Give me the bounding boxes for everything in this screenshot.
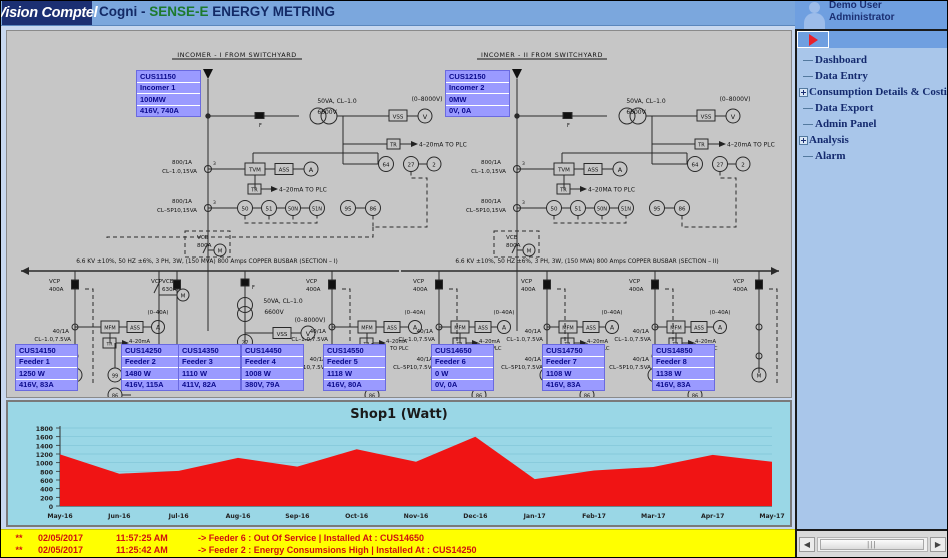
svg-text:ASS: ASS [279, 168, 290, 174]
user-avatar-icon [803, 1, 825, 29]
svg-text:ASS: ASS [586, 326, 596, 332]
svg-text:A: A [309, 166, 314, 174]
horizontal-scrollbar[interactable]: ◀ ||| ▶ [795, 529, 948, 558]
alarm-stars: ** [0, 533, 38, 543]
svg-text:MFM: MFM [104, 326, 116, 332]
svg-text:VCP: VCP [733, 279, 745, 285]
svg-text:(0–40A): (0–40A) [405, 310, 426, 316]
incomer-power: 100MW [137, 94, 200, 106]
svg-text:800/1A: 800/1A [481, 199, 501, 205]
svg-text:V: V [731, 113, 736, 121]
svg-text:CL–5P10,15VA: CL–5P10,15VA [157, 208, 197, 214]
feeder-card[interactable]: CUS14350 Feeder 3 1110 W 411V, 82A [178, 344, 241, 391]
alarm-time: 11:25:42 AM [116, 545, 198, 555]
svg-text:400A: 400A [733, 287, 748, 293]
svg-text:86: 86 [692, 394, 698, 399]
sld-schematic: INCOMER - I FROM SWITCHYARD F 50VA, CL–1… [7, 31, 792, 398]
sidebar-item-label: Consumption Details & Costing [809, 86, 948, 98]
svg-text:40/1A: 40/1A [633, 329, 650, 335]
svg-text:64: 64 [383, 163, 390, 169]
svg-text:Jul-16: Jul-16 [168, 513, 189, 520]
feeder-reading: 416V, 115A [122, 380, 183, 391]
svg-text:CL–1.0,15VA: CL–1.0,15VA [471, 169, 506, 175]
svg-text:Aug-16: Aug-16 [226, 513, 251, 520]
sidebar-item-data-entry[interactable]: Data Entry [797, 68, 948, 84]
feeder-reading: 0V, 0A [432, 380, 493, 391]
svg-text:400: 400 [40, 487, 54, 494]
svg-text:6600V: 6600V [264, 309, 284, 316]
feeder-code: CUS14750 [543, 345, 604, 357]
sidebar-item-label: Admin Panel [815, 118, 876, 130]
svg-text:(0–40A): (0–40A) [710, 310, 731, 316]
single-line-diagram-panel: INCOMER - I FROM SWITCHYARD F 50VA, CL–1… [6, 30, 792, 398]
svg-text:40/1A: 40/1A [417, 329, 434, 335]
feeder-reading: 416V, 80A [324, 380, 385, 391]
svg-text:51: 51 [266, 207, 273, 213]
vision-comptel-logo: Vision Comptel [2, 0, 92, 25]
svg-text:27: 27 [717, 163, 724, 169]
expand-plus-icon[interactable] [799, 136, 808, 145]
feeder-power: 1480 W [122, 368, 183, 380]
svg-text:600: 600 [40, 478, 54, 485]
alarm-ticker-bar: ** 02/05/2017 11:57:25 AM -> Feeder 6 : … [0, 529, 795, 558]
feeder-code: CUS14150 [16, 345, 77, 357]
alarm-date: 02/05/2017 [38, 545, 116, 555]
svg-text:6600V: 6600V [317, 109, 337, 116]
svg-text:51N: 51N [312, 207, 322, 213]
title-energy-metring: ENERGY METRING [209, 4, 336, 19]
svg-text:F: F [259, 123, 262, 129]
incomer-reading: 416V, 740A [137, 106, 200, 117]
sidebar-item-dashboard[interactable]: Dashboard [797, 52, 948, 68]
svg-text:3: 3 [522, 200, 525, 206]
feeder-name: Feeder 8 [653, 357, 714, 369]
navigation-sidebar: Dashboard Data Entry Consumption Details… [795, 29, 948, 529]
sidebar-header-strip [829, 31, 948, 48]
svg-text:ASS: ASS [130, 326, 140, 332]
svg-text:400A: 400A [49, 287, 64, 293]
feeder-name: Feeder 1 [16, 357, 77, 369]
svg-text:40/1A: 40/1A [525, 329, 542, 335]
sidebar-item-alarm[interactable]: Alarm [797, 148, 948, 164]
feeder-code: CUS14250 [122, 345, 183, 357]
svg-text:CL–1.0,7.5VA: CL–1.0,7.5VA [291, 337, 328, 343]
svg-text:CL–1.0,7.5VA: CL–1.0,7.5VA [398, 337, 435, 343]
svg-text:800A: 800A [197, 243, 212, 249]
feeder-reading: 411V, 82A [179, 380, 240, 391]
svg-text:Oct-16: Oct-16 [345, 513, 368, 520]
feeder-card[interactable]: CUS14550 Feeder 5 1118 W 416V, 80A [323, 344, 386, 391]
feeder-card[interactable]: CUS14750 Feeder 7 1108 W 416V, 83A [542, 344, 605, 391]
svg-text:800A: 800A [506, 243, 521, 249]
svg-text:CL–1.0,7.5VA: CL–1.0,7.5VA [506, 337, 543, 343]
feeder-card[interactable]: CUS14650 Feeder 6 0 W 0V, 0A [431, 344, 494, 391]
tree-line-icon [803, 108, 813, 109]
svg-text:A: A [718, 325, 723, 332]
svg-text:800/1A: 800/1A [172, 199, 192, 205]
svg-text:VCP: VCP [49, 279, 61, 285]
feeder-code: CUS14450 [242, 345, 303, 357]
sidebar-menu: Dashboard Data Entry Consumption Details… [797, 48, 948, 164]
svg-text:86: 86 [370, 207, 377, 213]
svg-text:ASS: ASS [588, 168, 599, 174]
svg-text:50: 50 [551, 207, 558, 213]
svg-text:Dec-16: Dec-16 [463, 513, 487, 520]
tree-line-icon [803, 76, 813, 77]
svg-text:CL–1.0,15VA: CL–1.0,15VA [162, 169, 197, 175]
sidebar-item-admin-panel[interactable]: Admin Panel [797, 116, 948, 132]
tree-line-icon [803, 156, 813, 157]
svg-text:VCB: VCB [197, 235, 209, 241]
expand-plus-icon[interactable] [799, 88, 808, 97]
svg-text:86: 86 [679, 207, 686, 213]
svg-text:400A: 400A [629, 287, 644, 293]
svg-text:86: 86 [584, 394, 590, 399]
feeder-power: 1110 W [179, 368, 240, 380]
tree-line-icon [803, 60, 813, 61]
feeder-code: CUS14650 [432, 345, 493, 357]
incomer-reading: 0V, 0A [446, 106, 509, 117]
sidebar-item-analysis[interactable]: Analysis [797, 132, 948, 148]
feeder-power: 1118 W [324, 368, 385, 380]
svg-text:TR: TR [106, 342, 114, 348]
svg-text:CL–5P10,7.5VA: CL–5P10,7.5VA [609, 365, 651, 371]
incomer-code: CUS11150 [137, 71, 200, 83]
svg-text:CL–5P10,7.5VA: CL–5P10,7.5VA [393, 365, 435, 371]
feeder-card[interactable]: CUS14250 Feeder 2 1480 W 416V, 115A [121, 344, 184, 391]
svg-text:50N: 50N [597, 207, 607, 213]
consumption-chart-panel: Shop1 (Watt) 020040060080010001200140016… [6, 400, 792, 527]
svg-text:6600V: 6600V [626, 109, 646, 116]
svg-text:1200: 1200 [36, 452, 54, 459]
feeder-code: CUS14850 [653, 345, 714, 357]
svg-text:A: A [502, 325, 507, 332]
incomer-card[interactable]: CUS11150 Incomer 1 100MW 416V, 740A [136, 70, 201, 117]
application-window: Vision Comptel Cogni - SENSE-E ENERGY ME… [0, 0, 948, 558]
svg-text:INCOMER - I FROM SWITCHYAR: INCOMER - I FROM SWITCHYARD [177, 51, 297, 59]
sidebar-item-label: Dashboard [815, 54, 867, 66]
svg-text:Feb-17: Feb-17 [582, 513, 606, 520]
svg-text:95: 95 [654, 207, 661, 213]
feeder-reading: 416V, 83A [653, 380, 714, 391]
svg-text:A: A [610, 325, 615, 332]
svg-text:2: 2 [432, 163, 436, 169]
svg-text:1800: 1800 [36, 426, 54, 433]
svg-text:Mar-17: Mar-17 [641, 513, 666, 520]
feeder-code: CUS14350 [179, 345, 240, 357]
alarm-row[interactable]: ** 02/05/2017 11:57:25 AM -> Feeder 6 : … [0, 532, 795, 544]
svg-text:(0–8000V): (0–8000V) [412, 96, 443, 103]
svg-text:May-17: May-17 [759, 513, 784, 520]
feeder-power: 1108 W [543, 368, 604, 380]
svg-text:Sep-16: Sep-16 [285, 513, 309, 520]
svg-text:800/1A: 800/1A [481, 160, 501, 166]
feeder-power: 1250 W [16, 368, 77, 380]
svg-text:4–20MA TO PLC: 4–20MA TO PLC [588, 187, 635, 194]
svg-text:TVM: TVM [248, 168, 261, 174]
alarm-time: 11:57:25 AM [116, 533, 198, 543]
svg-text:400A: 400A [306, 287, 321, 293]
feeder-name: Feeder 2 [122, 357, 183, 369]
svg-text:3: 3 [522, 161, 525, 167]
svg-text:TVM: TVM [557, 168, 570, 174]
incomer-name: Incomer 2 [446, 83, 509, 95]
svg-text:A: A [618, 166, 623, 174]
svg-text:50VA, CL–1.0: 50VA, CL–1.0 [317, 98, 357, 105]
svg-text:VCB: VCB [506, 235, 518, 241]
feeder-name: Feeder 7 [543, 357, 604, 369]
svg-text:40/1A: 40/1A [53, 329, 70, 335]
svg-text:MFM: MFM [562, 326, 574, 332]
svg-text:86: 86 [476, 394, 482, 399]
svg-text:2: 2 [741, 163, 745, 169]
sidebar-item-label: Data Entry [815, 70, 868, 82]
svg-text:TR: TR [559, 188, 567, 194]
svg-text:INCOMER - II FROM SWITCHYA: INCOMER - II FROM SWITCHYARD [481, 51, 603, 59]
incomer-power: 0MW [446, 94, 509, 106]
user-name: Demo User [829, 0, 882, 11]
scrollbar-thumb[interactable]: ||| [820, 539, 924, 550]
svg-text:400A: 400A [521, 287, 536, 293]
page-title: Cogni - SENSE-E ENERGY METRING [99, 4, 335, 19]
svg-text:M: M [181, 294, 186, 300]
feeder-name: Feeder 5 [324, 357, 385, 369]
sidebar-item-consumption-details-costing[interactable]: Consumption Details & Costing [797, 84, 948, 100]
feeder-name: Feeder 4 [242, 357, 303, 369]
feeder-name: Feeder 3 [179, 357, 240, 369]
svg-text:F: F [252, 285, 255, 291]
sidebar-item-label: Analysis [809, 134, 849, 146]
sidebar-item-label: Alarm [815, 150, 846, 162]
title-cogni: Cogni - [99, 4, 149, 19]
scrollbar-track[interactable]: ||| [817, 537, 928, 552]
scroll-left-arrow-icon[interactable]: ◀ [799, 537, 815, 552]
svg-text:50: 50 [242, 207, 249, 213]
shop1-watt-area-chart: 020040060080010001200140016001800May-16J… [8, 402, 790, 525]
incomer-name: Incomer 1 [137, 83, 200, 95]
user-role: Administrator [829, 12, 895, 23]
svg-text:VCB: VCB [162, 279, 174, 285]
feeder-power: 1138 W [653, 368, 714, 380]
svg-text:4–20mA TO PLC: 4–20mA TO PLC [727, 142, 775, 149]
svg-text:6.6 KV ±10%, 50 HZ ±6%, 3 PH,: 6.6 KV ±10%, 50 HZ ±6%, 3 PH, 3W, (150 M… [455, 259, 718, 265]
svg-text:1400: 1400 [36, 443, 54, 450]
svg-text:51: 51 [575, 207, 582, 213]
svg-text:64: 64 [692, 163, 699, 169]
svg-text:VSS: VSS [277, 332, 288, 338]
svg-text:CL–5P10,7.5VA: CL–5P10,7.5VA [501, 365, 543, 371]
svg-text:40/1A: 40/1A [633, 357, 650, 363]
svg-text:40/1A: 40/1A [310, 329, 327, 335]
svg-text:(0–40A): (0–40A) [148, 310, 169, 316]
svg-text:VSS: VSS [701, 115, 712, 121]
user-bar: Demo User Administrator [795, 0, 948, 30]
svg-text:Jun-16: Jun-16 [107, 513, 130, 520]
incomer-card[interactable]: CUS12150 Incomer 2 0MW 0V, 0A [445, 70, 510, 117]
feeder-code: CUS14550 [324, 345, 385, 357]
svg-text:Nov-16: Nov-16 [404, 513, 429, 520]
feeder-name: Feeder 6 [432, 357, 493, 369]
feeder-reading: 416V, 83A [543, 380, 604, 391]
svg-text:TR: TR [389, 143, 397, 149]
svg-text:0: 0 [49, 504, 54, 511]
svg-text:4–20mA TO PLC: 4–20mA TO PLC [279, 187, 327, 194]
title-sense-e: SENSE-E [149, 4, 208, 19]
alarm-message: -> Feeder 2 : Energy Consumsions High | … [198, 545, 477, 555]
svg-text:TO PLC: TO PLC [389, 346, 409, 352]
app-header: Vision Comptel Cogni - SENSE-E ENERGY ME… [0, 0, 795, 26]
svg-text:M: M [527, 249, 532, 255]
alarm-message: -> Feeder 6 : Out Of Service | Installed… [198, 533, 424, 543]
feeder-reading: 416V, 83A [16, 380, 77, 391]
feeder-power: 0 W [432, 368, 493, 380]
svg-text:CL–5P10,15VA: CL–5P10,15VA [466, 208, 506, 214]
tree-line-icon [803, 124, 813, 125]
svg-text:3: 3 [213, 161, 216, 167]
svg-text:400A: 400A [413, 287, 428, 293]
svg-text:A: A [156, 325, 161, 332]
svg-text:6.6 KV ±10%, 50 HZ ±6%, 3 PH,: 6.6 KV ±10%, 50 HZ ±6%, 3 PH, 3W, (150 M… [76, 259, 338, 265]
svg-text:Apr-17: Apr-17 [701, 513, 724, 520]
svg-text:800/1A: 800/1A [172, 160, 192, 166]
alarm-date: 02/05/2017 [38, 533, 116, 543]
svg-text:(0–40A): (0–40A) [602, 310, 623, 316]
svg-text:M: M [757, 374, 762, 380]
svg-text:ASS: ASS [478, 326, 488, 332]
svg-text:99: 99 [112, 374, 118, 380]
svg-text:VCP: VCP [306, 279, 318, 285]
svg-text:(0–8000V): (0–8000V) [720, 96, 751, 103]
sidebar-toggle-button[interactable] [797, 31, 829, 48]
svg-text:MFM: MFM [361, 326, 373, 332]
alarm-stars: ** [0, 545, 38, 555]
feeder-card[interactable]: CUS14450 Feeder 4 1008 W 380V, 79A [241, 344, 304, 391]
svg-text:ASS: ASS [694, 326, 704, 332]
svg-text:1000: 1000 [36, 461, 54, 468]
svg-text:TR: TR [250, 188, 258, 194]
svg-text:200: 200 [40, 495, 54, 502]
svg-text:40/1A: 40/1A [525, 357, 542, 363]
feeder-card[interactable]: CUS14150 Feeder 1 1250 W 416V, 83A [15, 344, 78, 391]
feeder-reading: 380V, 79A [242, 380, 303, 391]
svg-text:May-16: May-16 [47, 513, 72, 520]
svg-text:CL–1.0,7.5VA: CL–1.0,7.5VA [614, 337, 651, 343]
svg-text:50VA, CL–1.0: 50VA, CL–1.0 [263, 298, 303, 305]
svg-text:95: 95 [345, 207, 352, 213]
svg-text:3: 3 [213, 200, 216, 206]
svg-text:TR: TR [697, 143, 705, 149]
svg-text:VSS: VSS [393, 115, 404, 121]
svg-text:Jan-17: Jan-17 [523, 513, 546, 520]
scroll-right-arrow-icon[interactable]: ▶ [930, 537, 946, 552]
play-triangle-icon [809, 34, 818, 46]
incomer-code: CUS12150 [446, 71, 509, 83]
svg-text:51N: 51N [621, 207, 631, 213]
svg-text:MFM: MFM [670, 326, 682, 332]
svg-text:F: F [567, 123, 570, 129]
svg-text:V: V [423, 113, 428, 121]
feeder-power: 1008 W [242, 368, 303, 380]
svg-text:MFM: MFM [454, 326, 466, 332]
svg-text:86: 86 [112, 394, 118, 399]
svg-text:4–20mA TO PLC: 4–20mA TO PLC [419, 142, 467, 149]
svg-text:VCP: VCP [151, 279, 163, 285]
svg-text:1600: 1600 [36, 435, 54, 442]
svg-text:50N: 50N [288, 207, 298, 213]
svg-text:(0–40A): (0–40A) [494, 310, 515, 316]
svg-text:VCP: VCP [413, 279, 425, 285]
svg-text:CL–1.0,7.5VA: CL–1.0,7.5VA [34, 337, 71, 343]
svg-text:86: 86 [369, 394, 375, 399]
feeder-card[interactable]: CUS14850 Feeder 8 1138 W 416V, 83A [652, 344, 715, 391]
svg-text:800: 800 [40, 469, 54, 476]
svg-text:ASS: ASS [387, 326, 397, 332]
svg-text:27: 27 [408, 163, 415, 169]
alarm-row[interactable]: ** 02/05/2017 11:25:42 AM -> Feeder 2 : … [0, 544, 795, 556]
logo-text: Vision Comptel [0, 5, 97, 21]
svg-text:(0–8000V): (0–8000V) [295, 317, 326, 324]
svg-text:50VA, CL–1.0: 50VA, CL–1.0 [626, 98, 666, 105]
sidebar-item-label: Data Export [815, 102, 873, 114]
svg-text:VCP: VCP [629, 279, 641, 285]
sidebar-item-data-export[interactable]: Data Export [797, 100, 948, 116]
svg-text:M: M [218, 249, 223, 255]
svg-text:VCP: VCP [521, 279, 533, 285]
